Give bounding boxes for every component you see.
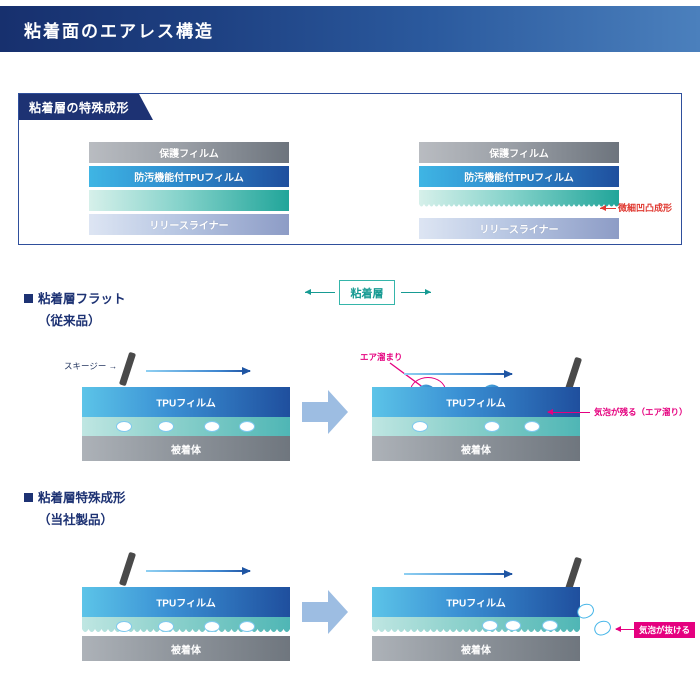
bullet-square-icon <box>24 294 33 303</box>
layer-protective-film: 保護フィルム <box>419 142 619 163</box>
section-1-heading: 粘着層フラット <box>24 288 126 307</box>
micro-texture-note: 微細凹凸成形 <box>618 201 672 214</box>
escaping-bubble <box>592 618 613 638</box>
air-bubble <box>158 421 174 432</box>
section-1-subheading: （従来品） <box>38 310 101 329</box>
arrow-to-right-stack <box>401 292 431 293</box>
air-bubble <box>412 421 428 432</box>
tpu-film-label: TPUフィルム <box>372 595 580 610</box>
air-bubble <box>239 421 255 432</box>
air-bubble <box>116 421 132 432</box>
adhesive-band-flat <box>372 417 580 436</box>
air-bubble <box>542 620 558 631</box>
layer-release-liner: リリースライナー <box>89 214 289 235</box>
layer-tpu-film: 防汚機能付TPUフィルム <box>419 166 619 187</box>
section-2-heading: 粘着層特殊成形 <box>24 487 126 506</box>
substrate-label: 被着体 <box>372 641 580 656</box>
layer-protective-film: 保護フィルム <box>89 142 289 163</box>
adhesive-layer-callout: 粘着層 <box>339 280 395 305</box>
diagram-flat-before: スキージー → TPUフィルム 被着体 <box>82 355 312 455</box>
layer-label: リリースライナー <box>419 218 619 239</box>
air-bubble <box>116 621 132 632</box>
squeegee-icon <box>119 552 136 586</box>
layer-tpu-film: 防汚機能付TPUフィルム <box>89 166 289 187</box>
direction-arrow <box>146 370 250 372</box>
layer-block: TPUフィルム 被着体 <box>372 387 580 461</box>
layer-block: TPUフィルム 被着体 <box>82 387 290 461</box>
page-root: 粘着面のエアレス構造 粘着層の特殊成形 保護フィルム 防汚機能付TPUフィルム … <box>0 0 700 700</box>
panel-tab-label: 粘着層の特殊成形 <box>29 99 129 116</box>
diagram-textured-before: TPUフィルム 被着体 <box>82 555 312 655</box>
squeegee-label: スキージー → <box>64 360 117 372</box>
adhesive-band-textured <box>82 617 290 636</box>
layer-label: 防汚機能付TPUフィルム <box>419 166 619 187</box>
bubble-escape-arrow-icon <box>616 629 634 630</box>
wavy-adhesive-shape <box>82 617 290 636</box>
layer-label: 防汚機能付TPUフィルム <box>89 166 289 187</box>
layer-block: TPUフィルム 被着体 <box>82 587 290 661</box>
section-2-heading-text: 粘着層特殊成形 <box>38 491 126 505</box>
layer-stack-left: 保護フィルム 防汚機能付TPUフィルム リリースライナー <box>89 142 289 238</box>
substrate-band: 被着体 <box>372 436 580 461</box>
substrate-band: 被着体 <box>82 636 290 661</box>
layer-label <box>89 190 289 211</box>
page-title: 粘着面のエアレス構造 <box>24 17 214 42</box>
bubble-remain-arrow-icon <box>548 412 590 413</box>
layer-release-liner: リリースライナー <box>419 218 619 239</box>
direction-arrow <box>146 570 250 572</box>
bubble-remain-label: 気泡が残る（エア溜り） <box>594 406 688 418</box>
page-header: 粘着面のエアレス構造 <box>0 6 700 52</box>
air-bubble <box>158 621 174 632</box>
section-1-heading-text: 粘着層フラット <box>38 292 126 306</box>
layer-label <box>419 190 619 214</box>
substrate-band: 被着体 <box>82 436 290 461</box>
layer-label: 保護フィルム <box>89 142 289 163</box>
adhesive-structure-panel: 粘着層の特殊成形 保護フィルム 防汚機能付TPUフィルム リリースライナー 粘着… <box>18 93 682 245</box>
air-bubble <box>482 620 498 631</box>
tpu-film-band: TPUフィルム <box>82 387 290 417</box>
substrate-label: 被着体 <box>372 441 580 456</box>
layer-block: TPUフィルム 被着体 <box>372 587 580 661</box>
section-2-subheading: （当社製品） <box>38 509 113 528</box>
tpu-film-label: TPUフィルム <box>372 395 580 410</box>
substrate-label: 被着体 <box>82 441 290 456</box>
air-bubble <box>484 421 500 432</box>
arrow-to-left-stack <box>305 292 335 293</box>
layer-adhesive-textured <box>419 190 619 214</box>
tpu-film-label: TPUフィルム <box>82 595 290 610</box>
diagram-textured-after: TPUフィルム 被着体 気泡が抜ける <box>372 555 622 655</box>
air-bubble <box>239 621 255 632</box>
tpu-film-label: TPUフィルム <box>82 395 290 410</box>
direction-arrow <box>404 373 512 375</box>
squeegee-icon <box>119 352 136 386</box>
air-bubble <box>204 421 220 432</box>
bubble-escape-label: 気泡が抜ける <box>634 622 695 638</box>
bullet-square-icon <box>24 493 33 502</box>
air-bubble <box>204 621 220 632</box>
layer-adhesive-flat <box>89 190 289 211</box>
tpu-film-band: TPUフィルム <box>372 587 580 617</box>
air-bubble <box>505 620 521 631</box>
layer-stack-right: 保護フィルム 防汚機能付TPUフィルム リリースライナー <box>419 142 619 242</box>
substrate-band: 被着体 <box>372 636 580 661</box>
air-bubble <box>524 421 540 432</box>
layer-label: 保護フィルム <box>419 142 619 163</box>
adhesive-band-flat <box>82 417 290 436</box>
adhesive-band-textured <box>372 617 580 636</box>
substrate-label: 被着体 <box>82 641 290 656</box>
diagram-flat-after: エア溜まり TPUフィルム <box>372 355 622 455</box>
tpu-film-band: TPUフィルム <box>82 587 290 617</box>
direction-arrow <box>404 573 512 575</box>
layer-label: リリースライナー <box>89 214 289 235</box>
micro-texture-arrow-icon <box>600 208 616 209</box>
